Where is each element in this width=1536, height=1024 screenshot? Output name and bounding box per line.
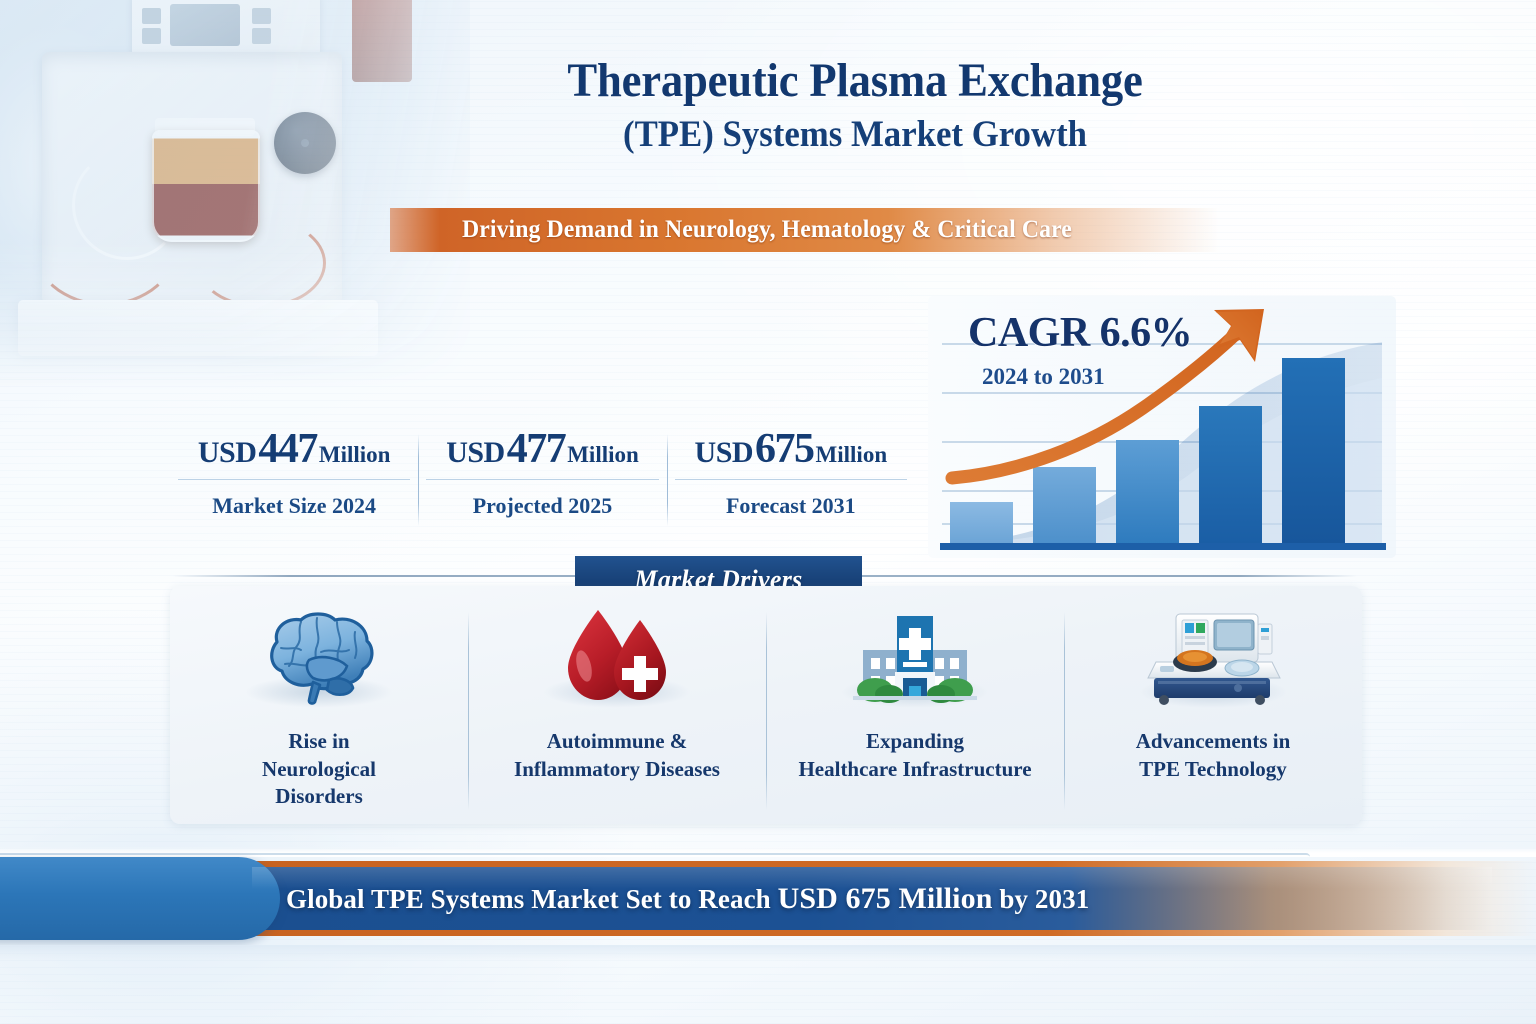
blood-drop-icon xyxy=(556,606,678,706)
driver-label: Autoimmune &Inflammatory Diseases xyxy=(514,728,720,783)
footer-text: Global TPE Systems Market Set to Reach U… xyxy=(286,882,1089,916)
hospital-icon xyxy=(845,606,985,706)
page-title: Therapeutic Plasma Exchange (TPE) System… xyxy=(470,56,1240,157)
title-line-1: Therapeutic Plasma Exchange xyxy=(497,56,1213,107)
driver-card-neurological-disorders[interactable]: Rise inNeurologicalDisorders xyxy=(170,586,468,824)
title-line-2: (TPE) Systems Market Growth xyxy=(493,113,1217,157)
tpe-machine-icon xyxy=(1138,606,1288,706)
driver-label: Advancements inTPE Technology xyxy=(1136,728,1291,783)
stat-cards: USD447Million Market Size 2024 USD477Mil… xyxy=(170,428,915,528)
driver-card-autoimmune-inflammatory[interactable]: Autoimmune &Inflammatory Diseases xyxy=(468,586,766,824)
footer-underglow xyxy=(0,945,1536,961)
chart-bar-4 xyxy=(1199,406,1262,544)
footer-blue-tab xyxy=(0,857,280,940)
stat-currency: USD xyxy=(695,436,754,469)
stat-number: 477 xyxy=(507,426,566,472)
chart-bar-1 xyxy=(950,502,1013,544)
stat-unit: Million xyxy=(816,442,888,467)
stat-value: USD477Million xyxy=(426,428,658,480)
growth-bar-chart: CAGR 6.6% 2024 to 2031 xyxy=(928,296,1396,558)
chart-baseline xyxy=(940,543,1386,550)
stat-value: USD675Million xyxy=(675,428,907,480)
infographic-root: Therapeutic Plasma Exchange (TPE) System… xyxy=(0,0,1536,1024)
stat-label: Market Size 2024 xyxy=(178,493,410,519)
chart-svg xyxy=(928,296,1396,558)
driver-card-tpe-technology[interactable]: Advancements inTPE Technology xyxy=(1064,586,1362,824)
market-drivers-panel: Rise inNeurologicalDisorders xyxy=(170,586,1362,824)
stat-unit: Million xyxy=(319,442,391,467)
stat-label: Forecast 2031 xyxy=(675,493,907,519)
brain-icon xyxy=(251,608,387,706)
stat-number: 447 xyxy=(258,426,317,472)
footer-text-suffix: by 2031 xyxy=(992,884,1089,914)
subtitle-text: Driving Demand in Neurology, Hematology … xyxy=(462,216,1072,244)
stat-currency: USD xyxy=(198,436,257,469)
stat-value: USD447Million xyxy=(178,428,410,480)
stat-card-projected-2025: USD477Million Projected 2025 xyxy=(418,428,666,528)
footer-banner: Global TPE Systems Market Set to Reach U… xyxy=(0,845,1536,965)
chart-bar-5 xyxy=(1282,358,1345,544)
chart-bar-3 xyxy=(1116,440,1179,544)
chart-bar-2 xyxy=(1033,467,1096,544)
driver-card-healthcare-infrastructure[interactable]: ExpandingHealthcare Infrastructure xyxy=(766,586,1064,824)
stat-card-forecast-2031: USD675Million Forecast 2031 xyxy=(667,428,915,528)
stat-currency: USD xyxy=(446,436,505,469)
driver-label: Rise inNeurologicalDisorders xyxy=(262,728,376,811)
plasma-exchange-machine-photo xyxy=(0,0,470,390)
driver-label: ExpandingHealthcare Infrastructure xyxy=(798,728,1031,783)
footer-text-prefix: Global TPE Systems Market Set to Reach xyxy=(286,884,778,914)
footer-text-highlight: USD 675 Million xyxy=(778,882,993,915)
stat-label: Projected 2025 xyxy=(426,493,658,519)
stat-card-market-size-2024: USD447Million Market Size 2024 xyxy=(170,428,418,528)
stat-unit: Million xyxy=(567,442,639,467)
subtitle-banner: Driving Demand in Neurology, Hematology … xyxy=(390,208,1220,252)
stat-number: 675 xyxy=(755,426,814,472)
footer-blue-bar: Global TPE Systems Market Set to Reach U… xyxy=(252,867,1492,930)
